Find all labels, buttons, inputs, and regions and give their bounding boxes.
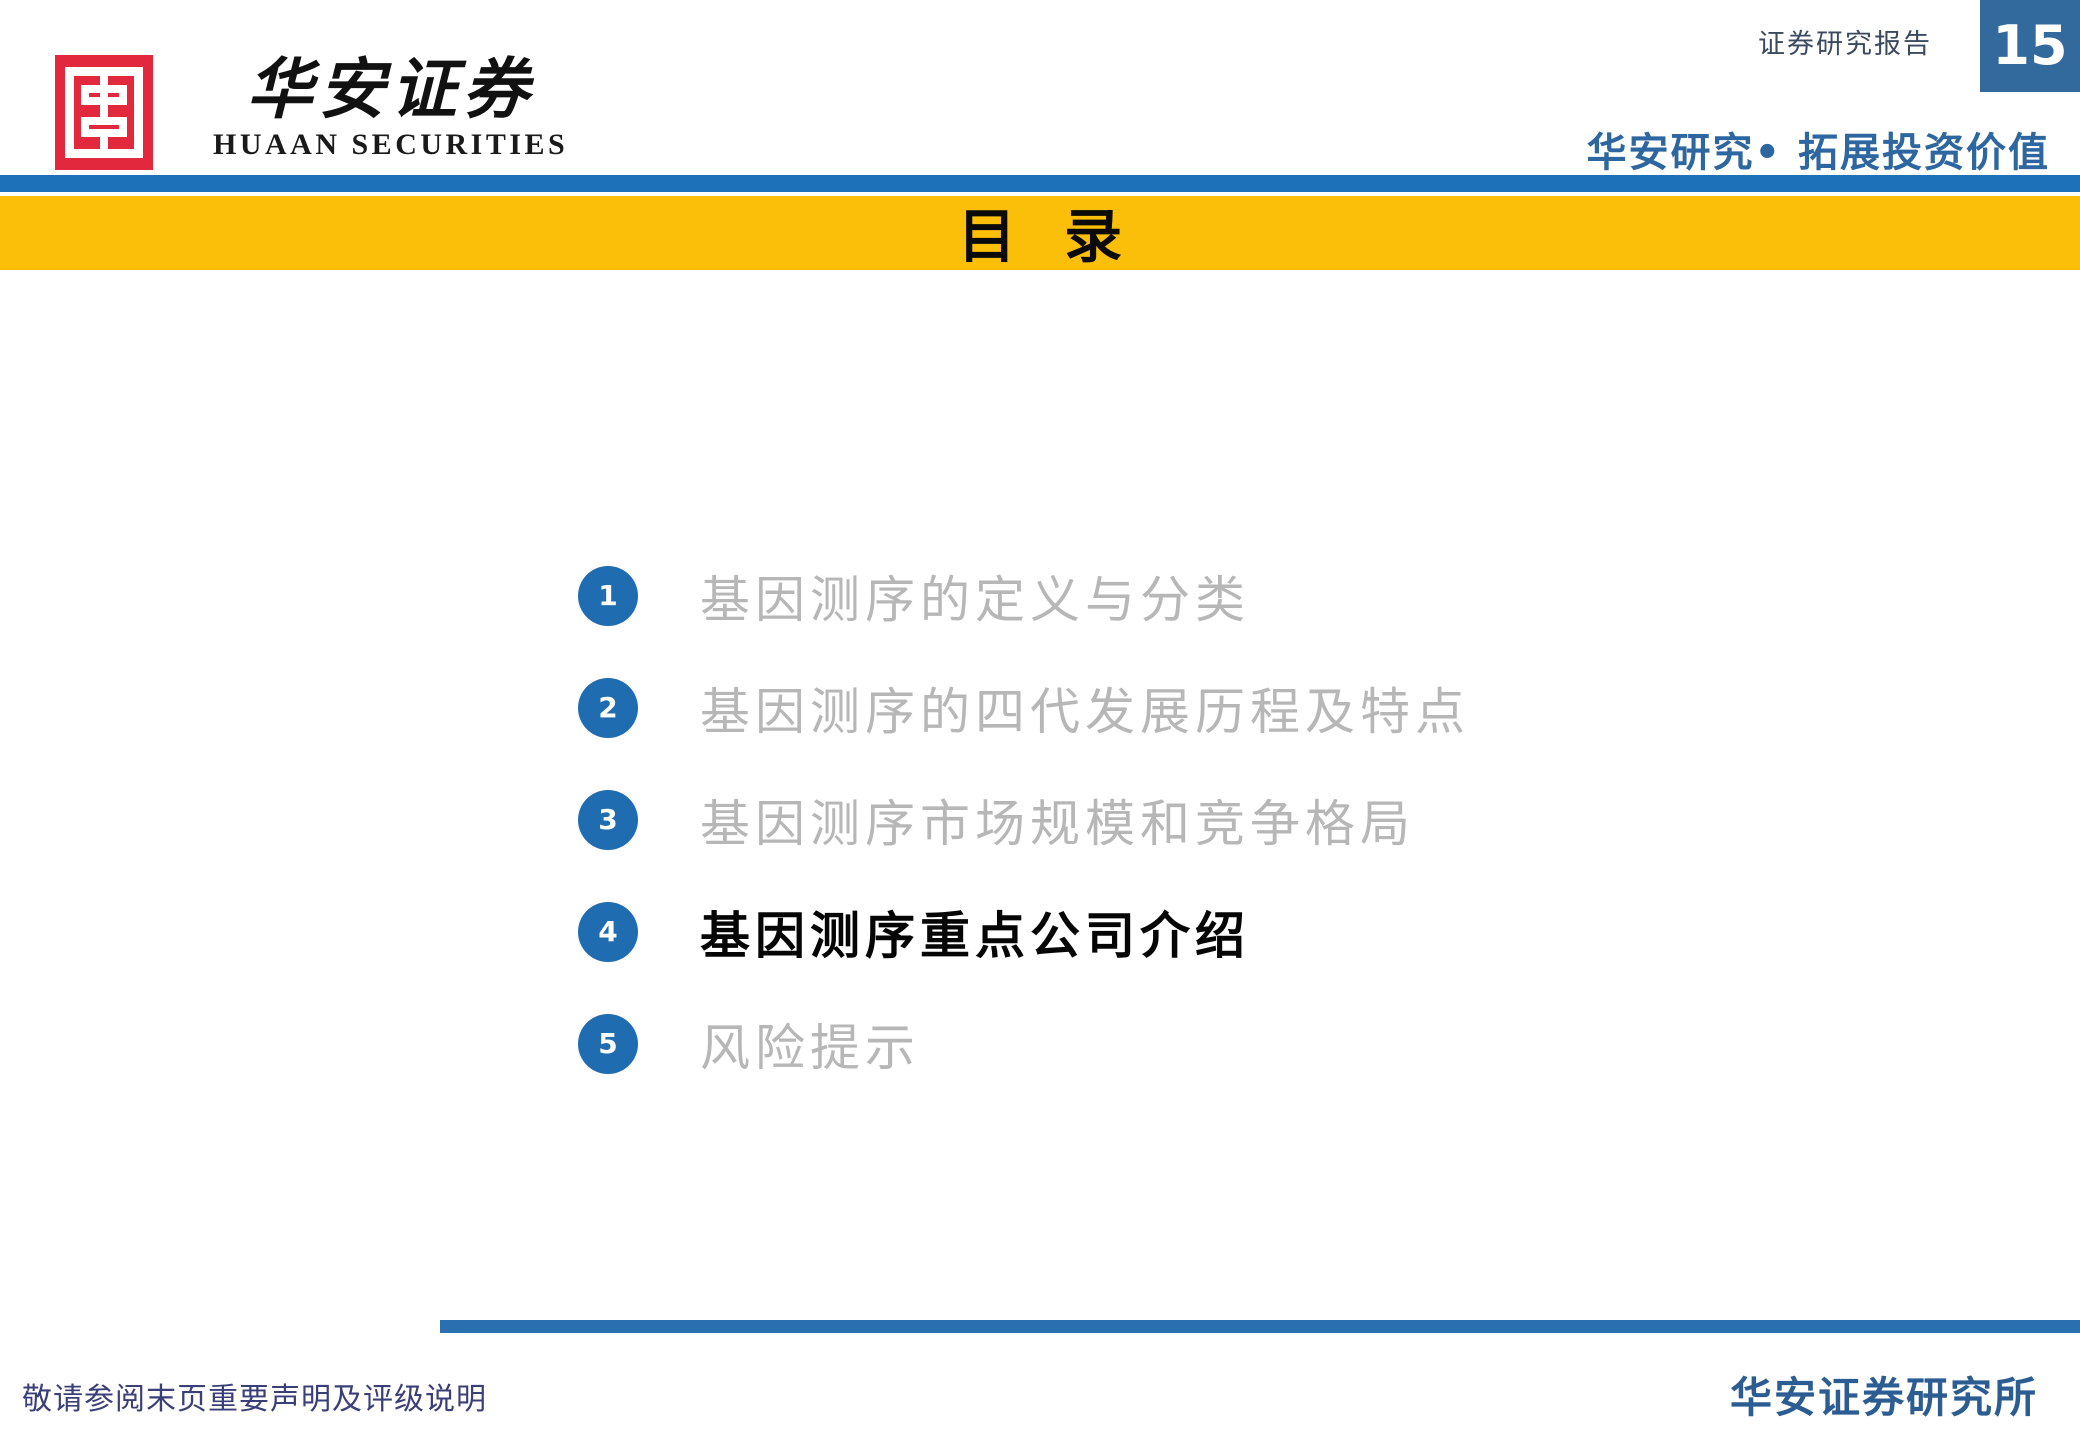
brand-wordmark: 华安证券 HUAAN SECURITIES (213, 55, 568, 162)
brand-name-cn: 华安证券 (247, 55, 535, 124)
report-kind-label: 证券研究报告 (1758, 22, 1932, 61)
toc-item-label: 基因测序的四代发展历程及特点 (700, 672, 1470, 744)
page-number-badge: 15 (1980, 0, 2080, 92)
toc-item-3[interactable]: 3 基因测序市场规模和竞争格局 (578, 764, 1778, 876)
toc-item-2[interactable]: 2 基因测序的四代发展历程及特点 (578, 652, 1778, 764)
footer-blue-rule (440, 1320, 2080, 1333)
table-of-contents: 1 基因测序的定义与分类 2 基因测序的四代发展历程及特点 3 基因测序市场规模… (578, 540, 1778, 1100)
footer-brand-name: 华安证券研究所 (1730, 1364, 2038, 1425)
toc-number-badge: 3 (578, 790, 638, 850)
toc-number-badge: 1 (578, 566, 638, 626)
toc-item-5[interactable]: 5 风险提示 (578, 988, 1778, 1100)
brand-tagline: 华安研究• 拓展投资价值 (1587, 120, 2051, 178)
toc-item-label: 风险提示 (700, 1008, 920, 1080)
toc-item-1[interactable]: 1 基因测序的定义与分类 (578, 540, 1778, 652)
title-banner: 目 录 (0, 196, 2080, 270)
toc-number-badge: 5 (578, 1014, 638, 1074)
toc-item-label: 基因测序重点公司介绍 (700, 896, 1250, 968)
toc-item-4[interactable]: 4 基因测序重点公司介绍 (578, 876, 1778, 988)
brand-logo: 华安证券 HUAAN SECURITIES (55, 55, 568, 170)
huaan-seal-logo-icon (55, 55, 153, 170)
brand-name-en: HUAAN SECURITIES (213, 128, 568, 162)
footer-disclaimer-note: 敬请参阅末页重要声明及评级说明 (22, 1374, 487, 1418)
toc-item-label: 基因测序市场规模和竞争格局 (700, 784, 1415, 856)
page-number-value: 15 (1992, 19, 2067, 73)
page-title: 目 录 (0, 189, 2080, 273)
toc-number-badge: 2 (578, 678, 638, 738)
toc-number-badge: 4 (578, 902, 638, 962)
toc-item-label: 基因测序的定义与分类 (700, 560, 1250, 632)
slide-canvas: 华安证券 HUAAN SECURITIES 证券研究报告 15 华安研究• 拓展… (0, 0, 2080, 1440)
